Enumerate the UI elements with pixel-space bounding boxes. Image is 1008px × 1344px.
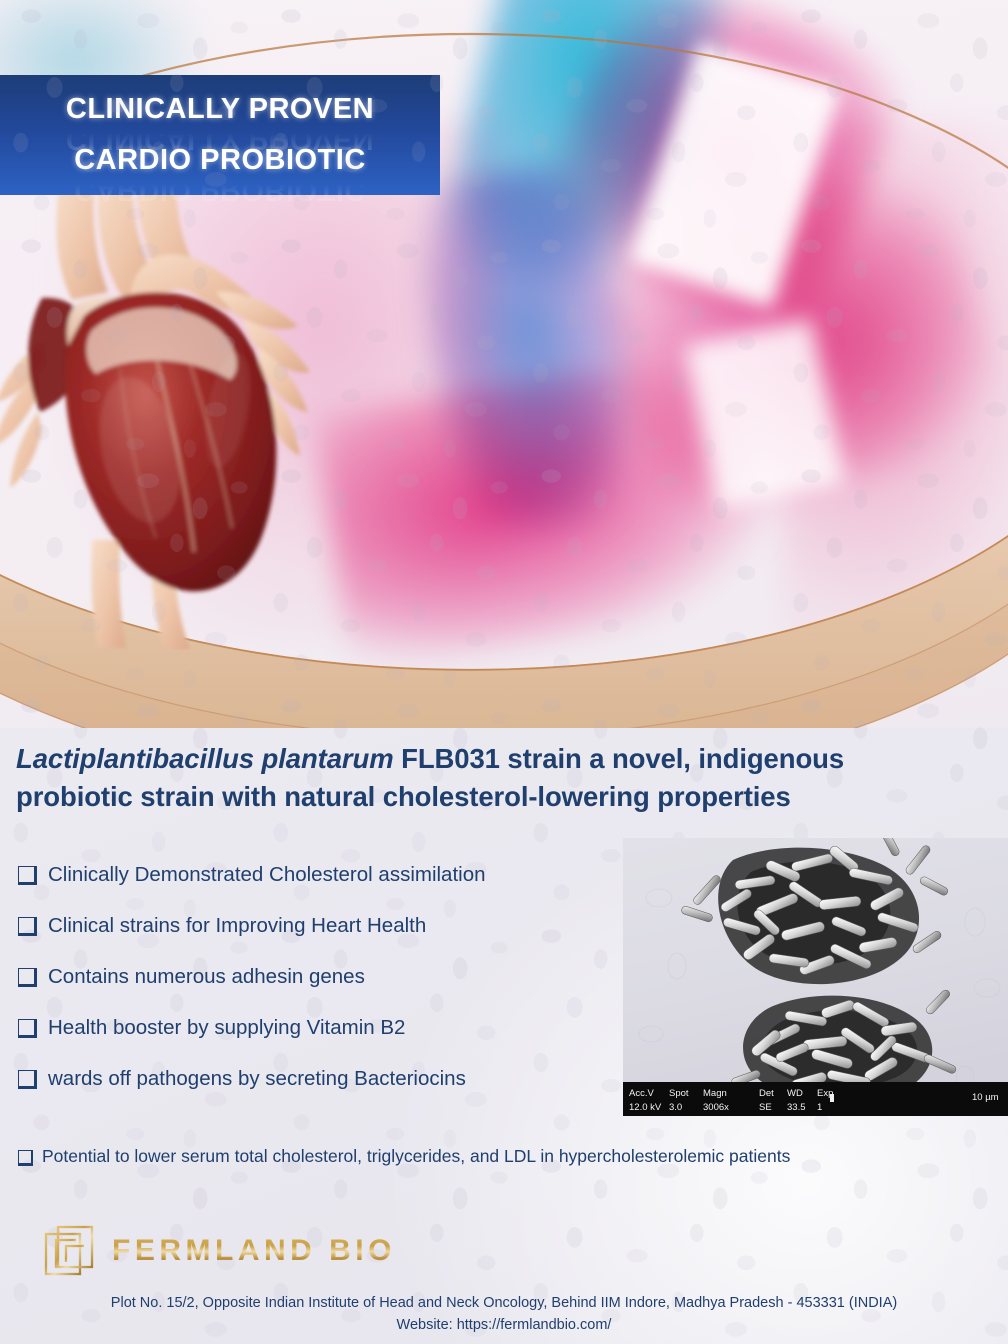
anatomical-heart-illustration: [0, 180, 380, 650]
list-item: Clinical strains for Improving Heart Hea…: [18, 913, 658, 938]
footer: Plot No. 15/2, Opposite Indian Institute…: [0, 1292, 1008, 1337]
square-bullet-icon: [18, 866, 37, 885]
feature-bullet-list: Clinically Demonstrated Cholesterol assi…: [18, 862, 658, 1117]
sem-databar: Acc.V Spot Magn Det WD Exp 10 µm 12.0 kV…: [623, 1082, 1008, 1116]
poster-page: CLINICALLY PROVEN CARDIO PROBIOTIC Lacti…: [0, 0, 1008, 1344]
company-logo: FERMLAND BIO: [44, 1224, 396, 1278]
banner-line-2: CARDIO PROBIOTIC: [74, 146, 366, 175]
sem-label-accv: Acc.V: [629, 1089, 669, 1099]
sem-label-spot: Spot: [669, 1089, 703, 1099]
sem-label-det: Det: [759, 1089, 787, 1099]
list-item: Contains numerous adhesin genes: [18, 964, 658, 989]
species-name: Lactiplantibacillus plantarum: [16, 743, 394, 774]
hero-title-banner: CLINICALLY PROVEN CARDIO PROBIOTIC: [0, 75, 440, 195]
sem-value-spot: 3.0: [669, 1103, 703, 1113]
sem-value-accv: 12.0 kV: [629, 1103, 669, 1113]
sem-micrograph-canvas: [623, 838, 1008, 1116]
sem-value-wd: 33.5: [787, 1103, 817, 1113]
bullet-text: Health booster by supplying Vitamin B2: [48, 1015, 405, 1040]
sem-label-wd: WD: [787, 1089, 817, 1099]
banner-line-1: CLINICALLY PROVEN: [66, 95, 374, 124]
square-bullet-icon: [18, 1070, 37, 1089]
page-title: Lactiplantibacillus plantarum FLB031 str…: [16, 740, 1002, 816]
logo-wordmark: FERMLAND BIO: [112, 1234, 396, 1268]
title-line-2: probiotic strain with natural cholestero…: [16, 781, 791, 812]
square-bullet-icon: [18, 968, 37, 987]
sem-databar-labels: Acc.V Spot Magn Det WD Exp 10 µm: [629, 1089, 1002, 1099]
sem-databar-values: 12.0 kV 3.0 3006x SE 33.5 1: [629, 1103, 1002, 1113]
list-item-wide: Potential to lower serum total cholester…: [18, 1146, 988, 1167]
sem-value-det: SE: [759, 1103, 787, 1113]
sem-label-magn: Magn: [703, 1089, 759, 1099]
footer-website[interactable]: Website: https://fermlandbio.com/: [0, 1314, 1008, 1336]
title-rest-line-1: FLB031 strain a novel, indigenous: [394, 743, 844, 774]
square-bullet-icon: [18, 1019, 37, 1038]
bullet-text: Contains numerous adhesin genes: [48, 964, 365, 989]
sem-micrograph: Acc.V Spot Magn Det WD Exp 10 µm 12.0 kV…: [623, 838, 1008, 1116]
sem-value-magn: 3006x: [703, 1103, 759, 1113]
bullet-text: wards off pathogens by secreting Bacteri…: [48, 1066, 466, 1091]
list-item: Clinically Demonstrated Cholesterol assi…: [18, 862, 658, 887]
fermland-bio-monogram-icon: [44, 1224, 96, 1278]
footer-address: Plot No. 15/2, Opposite Indian Institute…: [0, 1292, 1008, 1314]
hero-banner-image: CLINICALLY PROVEN CARDIO PROBIOTIC: [0, 0, 1008, 728]
bullet-text: Potential to lower serum total cholester…: [42, 1146, 790, 1167]
square-bullet-icon: [18, 1150, 33, 1166]
bullet-text: Clinically Demonstrated Cholesterol assi…: [48, 862, 486, 887]
sem-scale-label: 10 µm: [972, 1093, 999, 1103]
list-item: wards off pathogens by secreting Bacteri…: [18, 1066, 658, 1091]
bullet-text: Clinical strains for Improving Heart Hea…: [48, 913, 426, 938]
square-bullet-icon: [18, 917, 37, 936]
sem-value-exp: 1: [817, 1103, 847, 1113]
list-item: Health booster by supplying Vitamin B2: [18, 1015, 658, 1040]
